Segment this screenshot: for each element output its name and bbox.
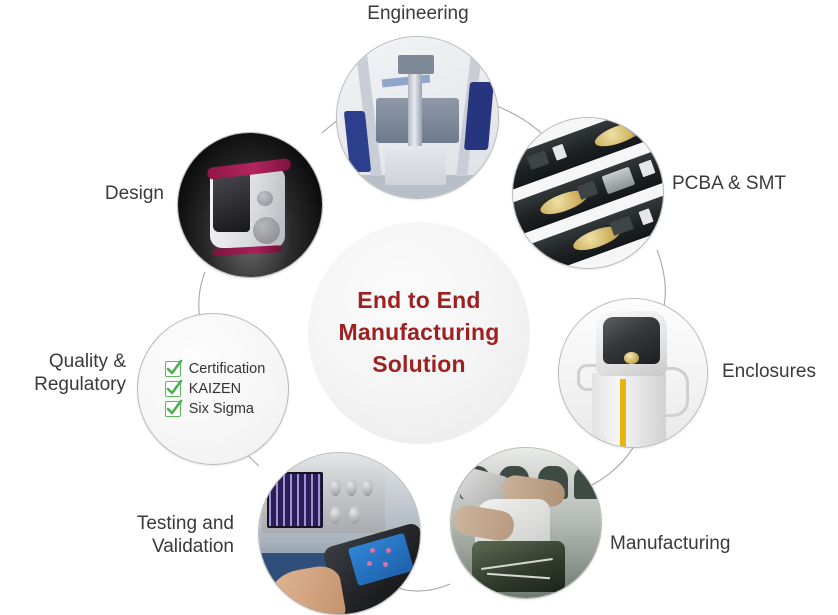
node-quality-regulatory[interactable]: Certification KAIZEN Six Sigma	[137, 313, 289, 465]
node-manufacturing[interactable]	[450, 447, 602, 599]
label-design: Design	[24, 182, 164, 205]
checklist-item-label: Six Sigma	[189, 401, 254, 417]
hub-circle: End to End Manufacturing Solution	[308, 222, 530, 444]
checklist-item-label: KAIZEN	[189, 381, 241, 397]
diagram-canvas: End to End Manufacturing Solution Engine…	[0, 0, 838, 615]
label-testing-validation: Testing and Validation	[46, 512, 234, 558]
hub-title: End to End Manufacturing Solution	[320, 285, 517, 380]
label-pcba-smt: PCBA & SMT	[672, 172, 838, 195]
manufacturing-image	[451, 448, 601, 598]
pcba-smt-image	[513, 118, 663, 268]
node-pcba-smt[interactable]	[512, 117, 664, 269]
checkbox-checked-icon[interactable]	[165, 381, 181, 397]
design-image	[178, 133, 322, 277]
node-engineering[interactable]	[336, 36, 499, 199]
checklist-item[interactable]: KAIZEN	[165, 381, 266, 397]
checklist-item[interactable]: Six Sigma	[165, 401, 266, 417]
checkbox-checked-icon[interactable]	[165, 361, 181, 377]
checklist-item-label: Certification	[189, 361, 266, 377]
quality-checklist: Certification KAIZEN Six Sigma	[161, 357, 266, 421]
engineering-image	[337, 37, 498, 198]
checklist-item[interactable]: Certification	[165, 361, 266, 377]
checkbox-checked-icon[interactable]	[165, 401, 181, 417]
node-testing-validation[interactable]	[258, 452, 421, 615]
node-design[interactable]	[177, 132, 323, 278]
enclosures-image	[559, 299, 707, 447]
label-manufacturing: Manufacturing	[610, 532, 810, 555]
node-enclosures[interactable]	[558, 298, 708, 448]
label-engineering: Engineering	[330, 2, 506, 25]
label-enclosures: Enclosures	[722, 360, 838, 383]
label-quality-regulatory: Quality & Regulatory	[0, 350, 126, 396]
testing-validation-image	[259, 453, 420, 614]
